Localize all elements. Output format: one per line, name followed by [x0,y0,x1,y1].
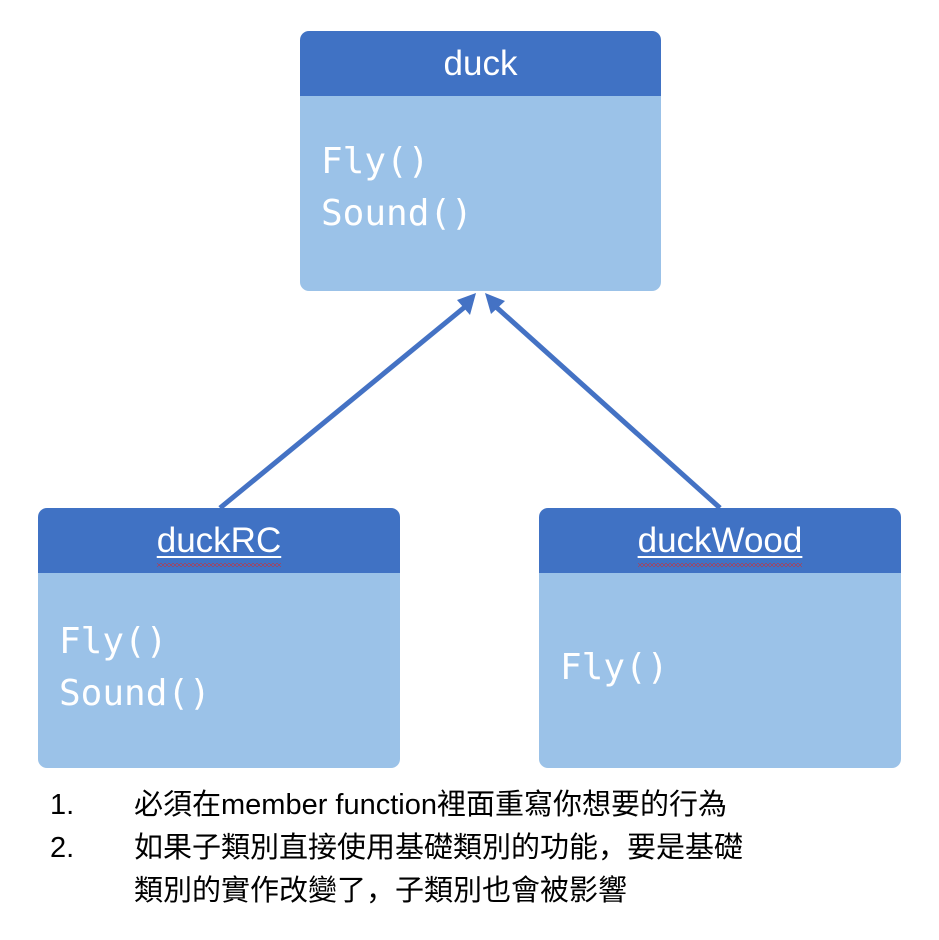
class-title-duckwood: duckWood [638,523,803,558]
class-header-duckwood: duckWood [539,508,901,573]
method-duckwood-fly: Fly() [560,642,901,694]
class-box-duckwood[interactable]: duckWood Fly() [539,508,901,768]
method-duckrc-fly: Fly() [59,616,400,668]
note-line-1-1: 必須在member function裡面重寫你想要的行為 [134,784,930,827]
connector-duckwood-to-duck [485,293,720,508]
note-item-1: 1. 必須在member function裡面重寫你想要的行為 [50,784,930,827]
note-text-2: 如果子類別直接使用基礎類別的功能，要是基礎 類別的實作改變了，子類別也會被影響 [134,827,930,913]
class-header-duck: duck [300,31,661,96]
method-duck-fly: Fly() [321,136,661,188]
note-line-2-1: 如果子類別直接使用基礎類別的功能，要是基礎 [134,827,930,870]
class-body-duck: Fly() Sound() [300,96,661,291]
method-duck-sound: Sound() [321,188,661,240]
notes-list: 1. 必須在member function裡面重寫你想要的行為 2. 如果子類別… [50,784,930,913]
class-title-duckrc: duckRC [157,523,281,558]
note-number-1: 1. [50,784,134,827]
class-title-duck: duck [444,46,518,81]
note-text-1: 必須在member function裡面重寫你想要的行為 [134,784,930,827]
class-body-duckrc: Fly() Sound() [38,573,400,768]
note-line-2-2: 類別的實作改變了，子類別也會被影響 [134,870,930,913]
class-box-duckrc[interactable]: duckRC Fly() Sound() [38,508,400,768]
method-duckrc-sound: Sound() [59,668,400,720]
connector-duckrc-to-duck [220,293,476,508]
note-item-2: 2. 如果子類別直接使用基礎類別的功能，要是基礎 類別的實作改變了，子類別也會被… [50,827,930,913]
class-header-duckrc: duckRC [38,508,400,573]
diagram-canvas: duck Fly() Sound() duckRC Fly() Sound() … [0,0,939,940]
note-number-2: 2. [50,827,134,870]
class-body-duckwood: Fly() [539,573,901,768]
class-box-duck[interactable]: duck Fly() Sound() [300,31,661,291]
